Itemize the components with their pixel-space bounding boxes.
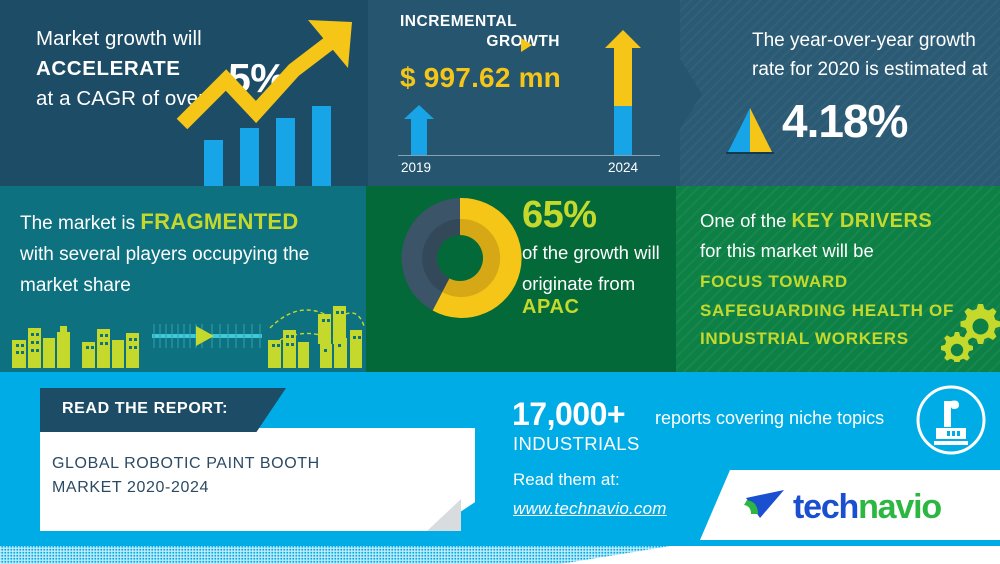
read-them-at-label: Read them at:	[513, 470, 620, 490]
apac-donut-chart	[398, 196, 522, 320]
driver-line-1: FOCUS TOWARD	[700, 272, 848, 291]
yoy-text-line2: rate for 2020 is estimated at	[752, 59, 988, 80]
play-triangle-icon	[521, 38, 532, 52]
report-title-line1: GLOBAL ROBOTIC PAINT BOOTH	[52, 455, 320, 472]
incremental-growth-title: INCREMENTAL GROWTH	[400, 12, 580, 52]
drivers-text-line2: for this market will be	[700, 240, 874, 261]
reports-category: INDUSTRIALS	[513, 433, 640, 455]
gears-icon	[938, 300, 1000, 362]
market-fragmentation-diagram	[0, 296, 366, 372]
fragmented-text-pre: The market is	[20, 213, 140, 234]
growth-triangle-icon	[726, 108, 774, 154]
fragmentation-axis	[152, 324, 262, 348]
read-the-report-banner[interactable]: READ THE REPORT:	[40, 388, 286, 432]
axis-label-2024: 2024	[608, 160, 638, 175]
apac-statement: of the growth will originate from	[522, 237, 692, 299]
read-the-report-label: READ THE REPORT:	[62, 400, 228, 418]
bar-2019	[404, 105, 434, 155]
apac-region-label: APAC	[522, 296, 580, 319]
donut-hole	[437, 235, 483, 281]
yoy-growth-value: 4.18%	[782, 94, 907, 148]
apac-percentage: 65%	[522, 194, 597, 237]
factory-icon	[915, 384, 987, 456]
reports-count: 17,000+	[512, 396, 625, 433]
growth-arrow-icon	[176, 12, 376, 172]
drivers-text-pre: One of the	[700, 210, 792, 231]
technavio-mark-icon	[744, 488, 786, 526]
buildings-cluster-right	[268, 306, 362, 368]
incremental-title-line2: GROWTH	[400, 32, 580, 52]
apac-text-line1: of the growth will	[522, 242, 660, 263]
drivers-statement: One of the KEY DRIVERS for this market w…	[700, 206, 990, 265]
report-title-text: GLOBAL ROBOTIC PAINT BOOTH MARKET 2020-2…	[52, 452, 362, 500]
incremental-growth-value: $ 997.62 mn	[400, 62, 561, 94]
buildings-cluster-left	[12, 326, 139, 368]
row-top: Market growth will ACCELERATE at a CAGR …	[0, 0, 1000, 186]
infographic-root: Market growth will ACCELERATE at a CAGR …	[0, 0, 1000, 564]
incremental-axis-line	[398, 155, 660, 156]
fragmented-statement: The market is FRAGMENTED with several pl…	[20, 206, 350, 301]
yoy-statement: The year-over-year growth rate for 2020 …	[752, 26, 992, 84]
axis-label-2019: 2019	[401, 160, 431, 175]
panel-fragmented-market: The market is FRAGMENTED with several pl…	[0, 186, 366, 372]
technavio-logo[interactable]: technavio	[744, 487, 941, 527]
yoy-text-line1: The year-over-year growth	[752, 30, 976, 51]
panel-chevron-notch	[672, 46, 702, 142]
incremental-title-line1: INCREMENTAL	[400, 13, 517, 30]
fragmented-highlight: FRAGMENTED	[140, 209, 298, 234]
reports-count-caption: reports covering niche topics	[655, 408, 884, 429]
fragmented-text-line3: market share	[20, 275, 131, 296]
cagr-text-emphasis: ACCELERATE	[36, 57, 181, 80]
panel-cagr: Market growth will ACCELERATE at a CAGR …	[0, 0, 368, 186]
bar-2024	[605, 30, 641, 155]
logo-text-tech: tech	[793, 488, 858, 526]
drivers-highlight: KEY DRIVERS	[792, 210, 933, 232]
driver-line-2: SAFEGUARDING HEALTH OF	[700, 301, 954, 320]
fragmented-text-line2: with several players occupying the	[20, 244, 309, 265]
logo-text-navio: navio	[858, 488, 941, 526]
driver-line-3: INDUSTRIAL WORKERS	[700, 329, 909, 348]
apac-text-line2: originate from	[522, 273, 635, 294]
report-title-line2: MARKET 2020-2024	[52, 479, 209, 496]
technavio-website-link[interactable]: www.technavio.com	[513, 499, 667, 519]
